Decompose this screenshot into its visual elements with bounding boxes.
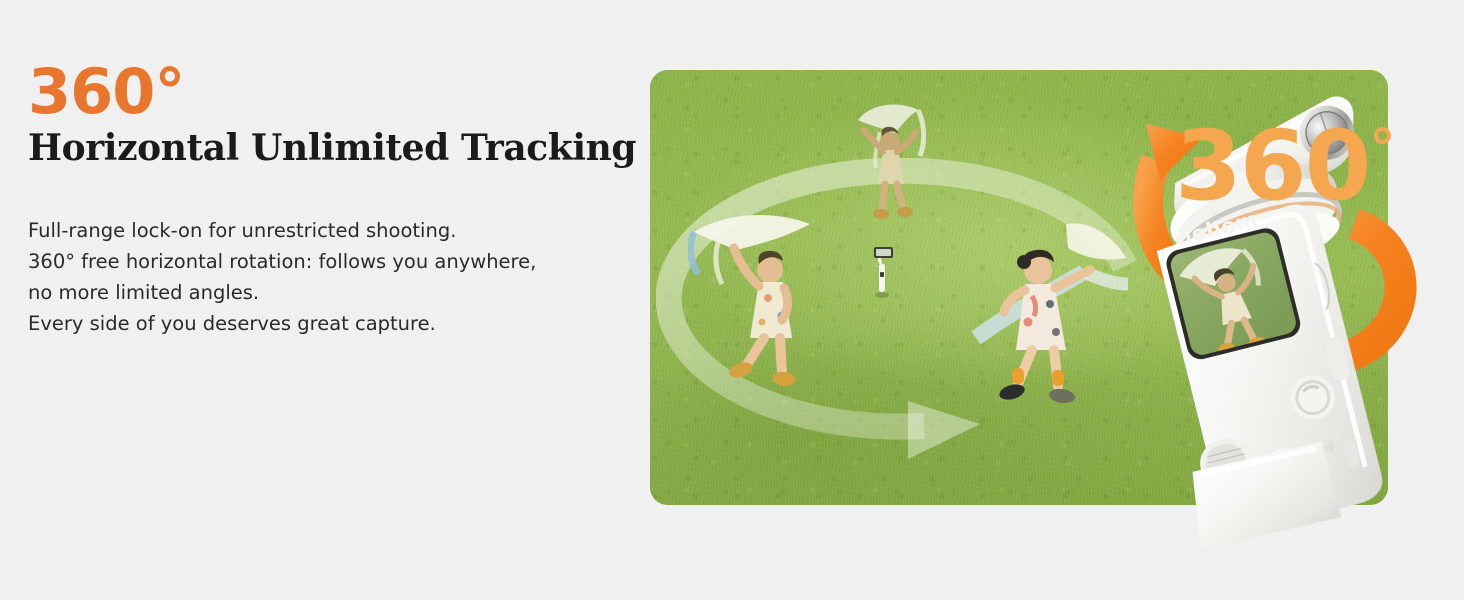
marketing-banner: 360° Horizontal Unlimited Tracking Full-…	[0, 0, 1464, 600]
body-line-2: 360° free horizontal rotation: follows y…	[28, 247, 638, 278]
body-line-3: no more limited angles.	[28, 278, 638, 309]
copy-block: 360° Horizontal Unlimited Tracking Full-…	[28, 62, 638, 339]
body-copy: Full-range lock-on for unrestricted shoo…	[28, 216, 638, 339]
center-mini-gimbal-icon	[868, 245, 898, 299]
grass-field-scene	[650, 70, 1388, 505]
scene-image-wrapper	[650, 70, 1388, 505]
body-line-4: Every side of you deserves great capture…	[28, 309, 638, 340]
body-line-1: Full-range lock-on for unrestricted shoo…	[28, 216, 638, 247]
figure-child-right	[962, 218, 1130, 418]
figure-child-top	[840, 98, 936, 226]
figure-child-left	[688, 198, 838, 398]
eyebrow-360: 360°	[28, 62, 638, 123]
page-title: Horizontal Unlimited Tracking	[28, 127, 638, 169]
